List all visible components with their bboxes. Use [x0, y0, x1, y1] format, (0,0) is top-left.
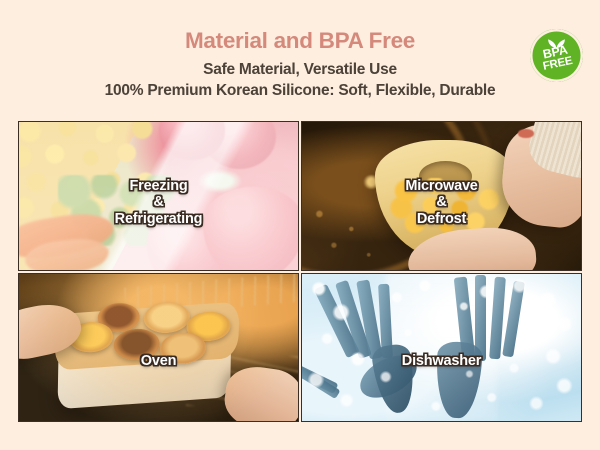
product-feature-banner: Material and BPA Free Safe Material, Ver… — [0, 0, 600, 450]
label-line-2: Refrigerating — [115, 211, 203, 227]
photo-dishwasher — [302, 274, 581, 421]
panel-freezing-refrigerating: Freezing & Refrigerating — [18, 121, 299, 271]
warm-light-overlay — [19, 274, 298, 421]
panel-label-dishwasher: Dishwasher — [302, 353, 581, 369]
subtitle-line-2: 100% Premium Korean Silicone: Soft, Flex… — [0, 81, 600, 101]
bpa-free-badge: BPA FREE — [530, 29, 583, 82]
label-line-2: Defrost — [417, 211, 466, 227]
subtitle-line-1: Safe Material, Versatile Use — [0, 60, 600, 80]
header-block: Material and BPA Free Safe Material, Ver… — [0, 0, 600, 118]
water-bubbles — [302, 274, 581, 421]
panel-dishwasher: Dishwasher — [301, 273, 582, 422]
panel-label-freezing: Freezing & Refrigerating — [19, 178, 298, 227]
label-ampersand: & — [19, 194, 298, 210]
label-line-1: Microwave — [405, 178, 477, 194]
label-line-1: Freezing — [129, 178, 187, 194]
page-title: Material and BPA Free — [0, 30, 600, 53]
label-ampersand: & — [302, 194, 581, 210]
fingernail — [518, 129, 533, 138]
panel-microwave-defrost: Microwave & Defrost — [301, 121, 582, 271]
feature-image-grid: Freezing & Refrigerating — [18, 121, 582, 422]
panel-label-microwave: Microwave & Defrost — [302, 178, 581, 227]
label-line-1: Oven — [141, 353, 176, 369]
panel-oven: Oven — [18, 273, 299, 422]
panel-label-oven: Oven — [19, 353, 298, 369]
label-line-1: Dishwasher — [402, 353, 481, 369]
photo-oven — [19, 274, 298, 421]
